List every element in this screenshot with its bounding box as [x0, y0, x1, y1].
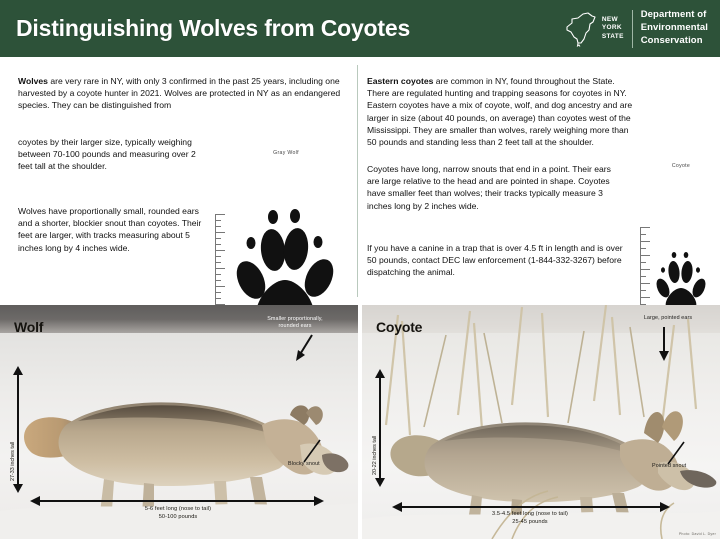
infographic-page: Distinguishing Wolves from Coyotes NEW Y…: [0, 0, 720, 539]
wolf-lead-word: Wolves: [18, 76, 48, 86]
coyote-paragraph-2: Coyotes have long, narrow snouts that en…: [367, 163, 625, 212]
page-title: Distinguishing Wolves from Coyotes: [16, 15, 410, 42]
wolf-ear-callout-line-1: Smaller proportionally,: [239, 316, 351, 323]
coyote-text-block-3: If you have a canine in a trap that is o…: [367, 242, 625, 288]
coyote-track-caption: Coyote: [652, 163, 710, 169]
coyote-text-block-2: Coyotes have long, narrow snouts that en…: [367, 163, 625, 221]
new-york-state-wordmark: NEW YORK STATE: [602, 16, 624, 41]
column-divider: [357, 65, 358, 297]
coyote-height-label: 20-22 inches tall: [372, 436, 378, 475]
coyote-text-block-1: Eastern coyotes are common in NY, found …: [367, 75, 637, 157]
wolf-panel-label: Wolf: [14, 319, 43, 335]
wolf-paragraph-1-cont: coyotes by their larger size, typically …: [18, 136, 208, 173]
wolf-photo-panel: Wolf Smaller proportionally, rounded ear…: [0, 305, 358, 539]
logo-divider: [632, 10, 633, 48]
logo-state-line-2: YORK: [602, 24, 624, 32]
wolf-ear-callout-line-2: rounded ears: [239, 323, 351, 330]
wolf-track-caption-wrap: Gray Wolf: [233, 150, 339, 158]
text-section: Wolves are very rare in NY, with only 3 …: [0, 57, 720, 305]
nysdec-logo: NEW YORK STATE Department of Environment…: [565, 9, 708, 47]
wolf-weight-label: 50-100 pounds: [60, 514, 296, 522]
wolf-paragraph-2: Wolves have proportionally small, rounde…: [18, 205, 210, 254]
photo-credit: Photo: David L. Dyer: [679, 532, 716, 536]
wolf-height-label: 27-33 inches tall: [10, 442, 16, 481]
wolf-ear-arrow-icon: [292, 333, 318, 363]
logo-state-line-1: NEW: [602, 16, 624, 24]
coyote-ear-callout: Large, pointed ears: [618, 315, 718, 322]
coyote-ear-arrow-icon: [658, 327, 670, 361]
wolf-snout-leader-icon: [300, 438, 324, 464]
wolf-paragraph-1: are very rare in NY, with only 3 confirm…: [18, 76, 340, 110]
logo-state-line-3: STATE: [602, 33, 624, 41]
coyote-length-label: 3.5-4.5 feet long (nose to tail): [414, 511, 646, 519]
wolf-size-label: 5-6 feet long (nose to tail) 50-100 poun…: [60, 506, 296, 521]
new-york-state-mark: NEW YORK STATE: [565, 10, 624, 48]
wolf-track-caption: Gray Wolf: [233, 150, 339, 156]
dept-line-3: Conservation: [641, 35, 708, 48]
wolf-ear-callout: Smaller proportionally, rounded ears: [239, 316, 351, 330]
coyote-weight-label: 25-45 pounds: [414, 519, 646, 527]
photo-section: Wolf Smaller proportionally, rounded ear…: [0, 305, 720, 539]
coyote-paragraph-3: If you have a canine in a trap that is o…: [367, 242, 625, 279]
dept-line-1: Department of: [641, 9, 708, 22]
coyote-track-caption-wrap: Coyote: [652, 163, 710, 171]
coyote-lead-word: Eastern coyotes: [367, 76, 433, 86]
dept-line-2: Environmental: [641, 22, 708, 35]
department-wordmark: Department of Environmental Conservation: [641, 9, 708, 47]
page-header: Distinguishing Wolves from Coyotes NEW Y…: [0, 0, 720, 57]
coyote-paragraph-1: are common in NY, found throughout the S…: [367, 76, 632, 147]
coyote-panel-label: Coyote: [376, 319, 422, 335]
wolf-text-block-3: Wolves have proportionally small, rounde…: [18, 205, 210, 263]
new-york-state-outline-icon: [565, 10, 599, 48]
wolf-text-block-2: coyotes by their larger size, typically …: [18, 136, 208, 182]
wolf-text-block-1: Wolves are very rare in NY, with only 3 …: [18, 75, 356, 121]
coyote-size-label: 3.5-4.5 feet long (nose to tail) 25-45 p…: [414, 511, 646, 526]
coyote-photo-panel: Coyote Large, pointed ears Pointed snout…: [362, 305, 720, 539]
coyote-snout-leader-icon: [664, 440, 688, 466]
wolf-length-label: 5-6 feet long (nose to tail): [60, 506, 296, 514]
